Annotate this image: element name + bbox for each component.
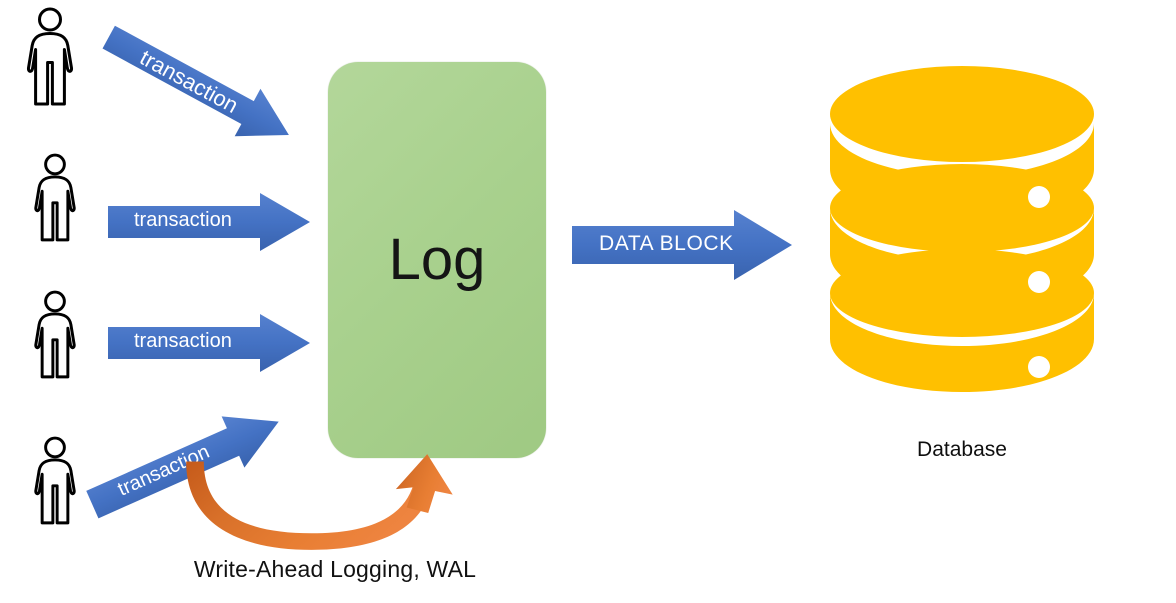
person-icon-user-2 — [30, 152, 80, 242]
database-label: Database — [826, 438, 1098, 462]
data-block-arrow: DATA BLOCK — [572, 210, 794, 280]
wal-curved-arrow — [186, 462, 476, 558]
database-indicator-dot-2 — [1028, 271, 1050, 293]
person-icon-user-1 — [22, 6, 78, 106]
database-indicator-dot-3 — [1028, 356, 1050, 378]
log-box: Log — [328, 62, 546, 458]
transaction-arrow-3: transaction — [108, 314, 312, 372]
wal-label: Write-Ahead Logging, WAL — [100, 556, 570, 583]
diagram-canvas: transaction transaction — [0, 0, 1176, 603]
person-icon-user-4 — [30, 432, 80, 528]
log-box-label: Log — [389, 231, 486, 289]
database-indicator-dot-1 — [1028, 186, 1050, 208]
person-icon-user-3 — [30, 288, 80, 380]
database-cylinder-icon — [826, 60, 1098, 397]
transaction-arrow-2: transaction — [108, 193, 312, 251]
